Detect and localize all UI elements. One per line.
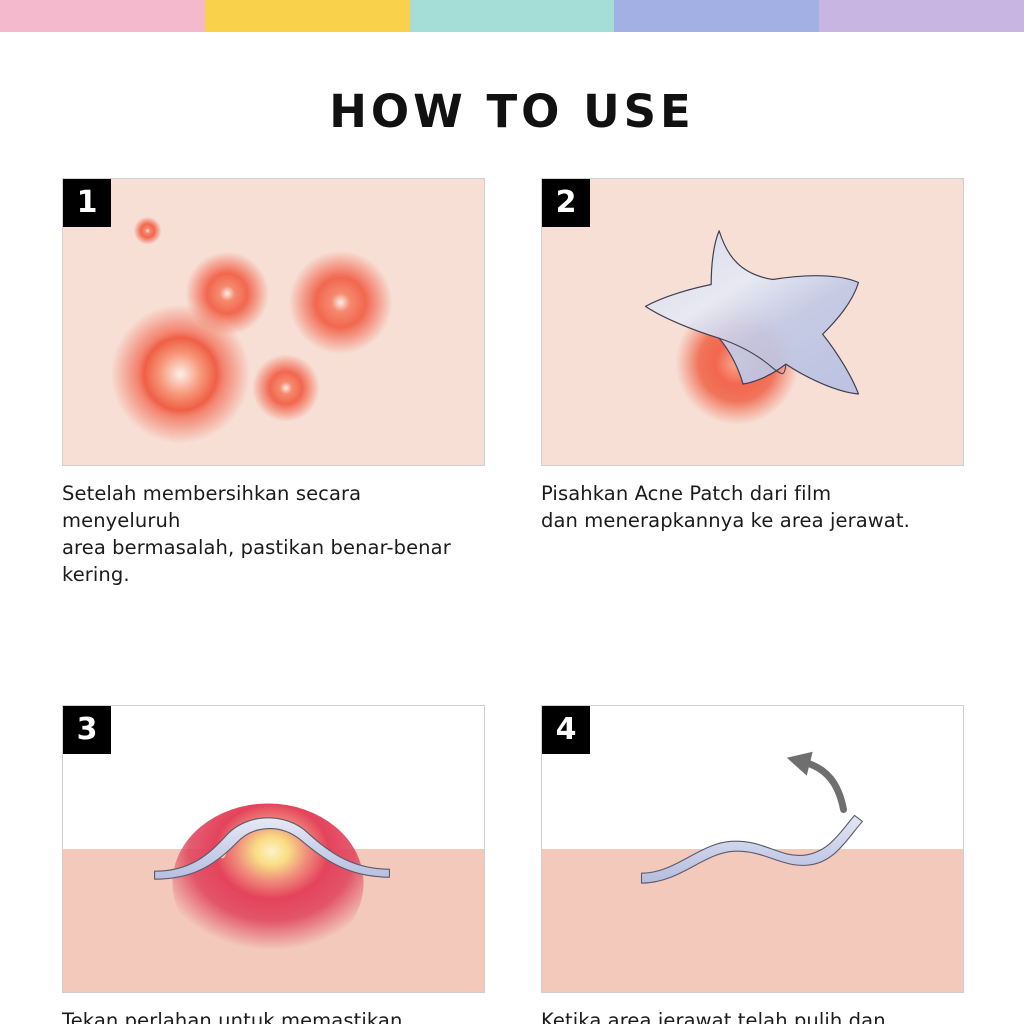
step-card-3: 3 Tekan perlahan untuk memastikan acne p… (62, 705, 485, 1024)
color-segment-lavender (819, 0, 1024, 32)
step-card-1: 1 Setelah membersihkan secara menyeluruh… (62, 178, 485, 588)
infographic-page: HOW TO USE (0, 0, 1024, 1024)
color-segment-pink (0, 0, 205, 32)
step-illustration-1: 1 (62, 178, 485, 466)
step-illustration-3: 3 (62, 705, 485, 993)
page-title: HOW TO USE (0, 86, 1024, 138)
color-segment-periwinkle (614, 0, 819, 32)
steps-row-2: 3 Tekan perlahan untuk memastikan acne p… (62, 705, 964, 1024)
top-color-bar (0, 0, 1024, 32)
step-badge-2: 2 (542, 179, 590, 227)
patch-removal-illustration (542, 706, 963, 993)
step-badge-1: 1 (63, 179, 111, 227)
step-badge-4: 4 (542, 706, 590, 754)
acne-spots-illustration (63, 179, 484, 466)
step-card-2: 2 Pisahkan Acne Patch dari film dan mene… (541, 178, 964, 588)
color-segment-mint (410, 0, 615, 32)
step-caption-3: Tekan perlahan untuk memastikan acne pat… (62, 1007, 485, 1024)
step-illustration-2: 2 (541, 178, 964, 466)
star-patch-illustration (542, 179, 963, 466)
step-illustration-4: 4 (541, 705, 964, 993)
step-badge-3: 3 (63, 706, 111, 754)
step-caption-1: Setelah membersihkan secara menyeluruh a… (62, 480, 485, 588)
pimple-cross-section-illustration (63, 706, 484, 993)
steps-grid: 1 Setelah membersihkan secara menyeluruh… (62, 178, 964, 1024)
steps-row-1: 1 Setelah membersihkan secara menyeluruh… (62, 178, 964, 588)
step-caption-4: Ketika area jerawat telah pulih dan acne… (541, 1007, 964, 1024)
step-caption-2: Pisahkan Acne Patch dari film dan menera… (541, 480, 964, 534)
step-card-4: 4 Ketika area jerawat telah pulih dan ac… (541, 705, 964, 1024)
color-segment-yellow (205, 0, 410, 32)
